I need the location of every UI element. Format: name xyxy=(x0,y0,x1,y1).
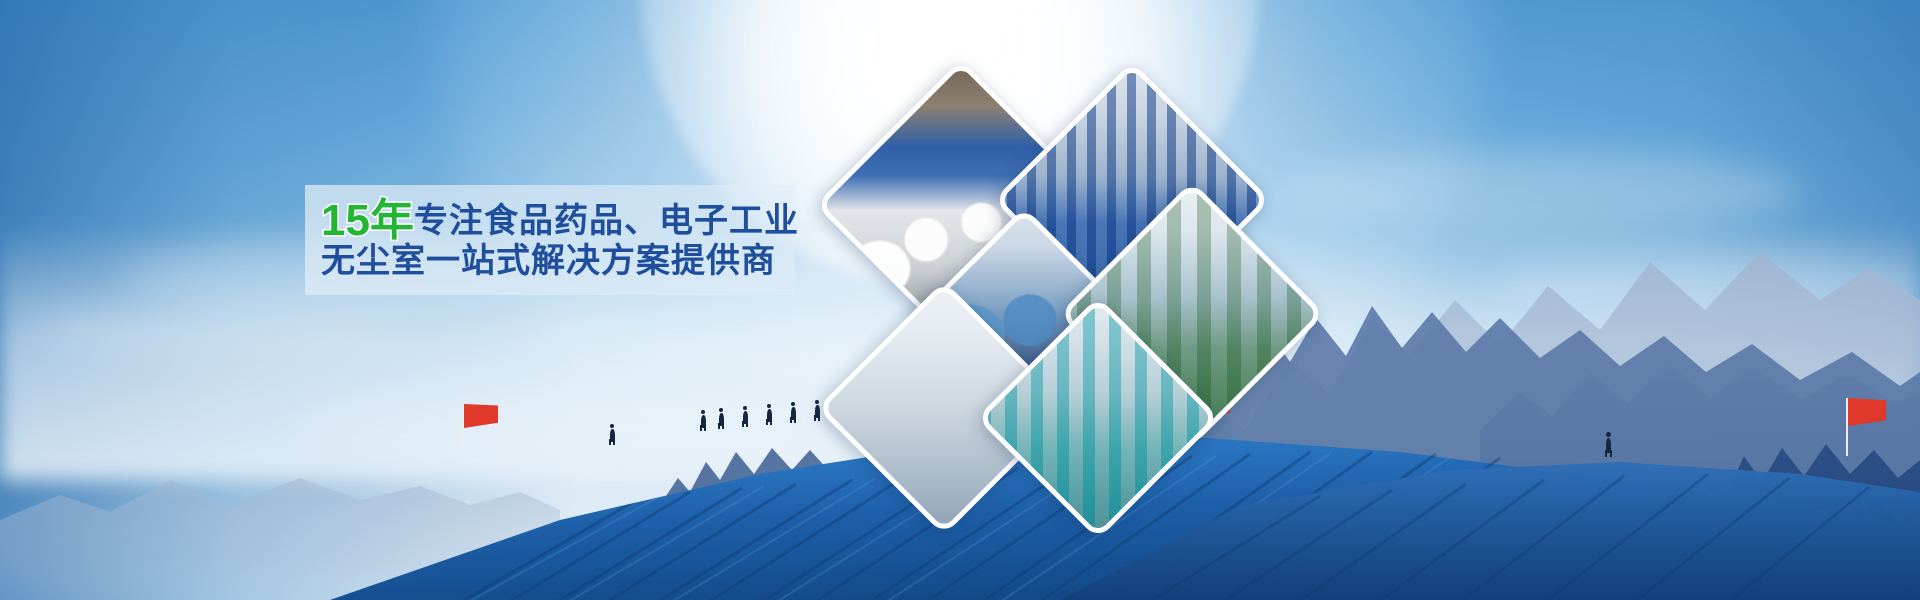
headline-line-2-text: 无尘室一站式解决方案提供商 xyxy=(321,242,776,280)
headline-years: 15年 xyxy=(321,196,414,245)
climber xyxy=(742,406,749,426)
climber xyxy=(1605,432,1613,456)
climber xyxy=(700,410,707,430)
hero-banner: 15年专注食品药品、电子工业 无尘室一站式解决方案提供商 xyxy=(0,0,1920,600)
headline-line-1-rest: 专注食品药品、电子工业 xyxy=(414,202,799,240)
summit-flag-left xyxy=(462,404,498,452)
diamond-photo-collage xyxy=(836,92,1276,472)
headline-panel: 15年专注食品药品、电子工业 无尘室一站式解决方案提供商 xyxy=(305,185,795,295)
summit-flag-right xyxy=(1846,398,1888,456)
climber xyxy=(790,402,797,422)
headline-line-1: 15年专注食品药品、电子工业 xyxy=(305,199,811,243)
climber xyxy=(609,424,616,444)
climber xyxy=(814,400,821,420)
climber xyxy=(718,408,725,428)
climber xyxy=(766,404,773,424)
headline-line-2: 无尘室一站式解决方案提供商 xyxy=(305,241,811,281)
